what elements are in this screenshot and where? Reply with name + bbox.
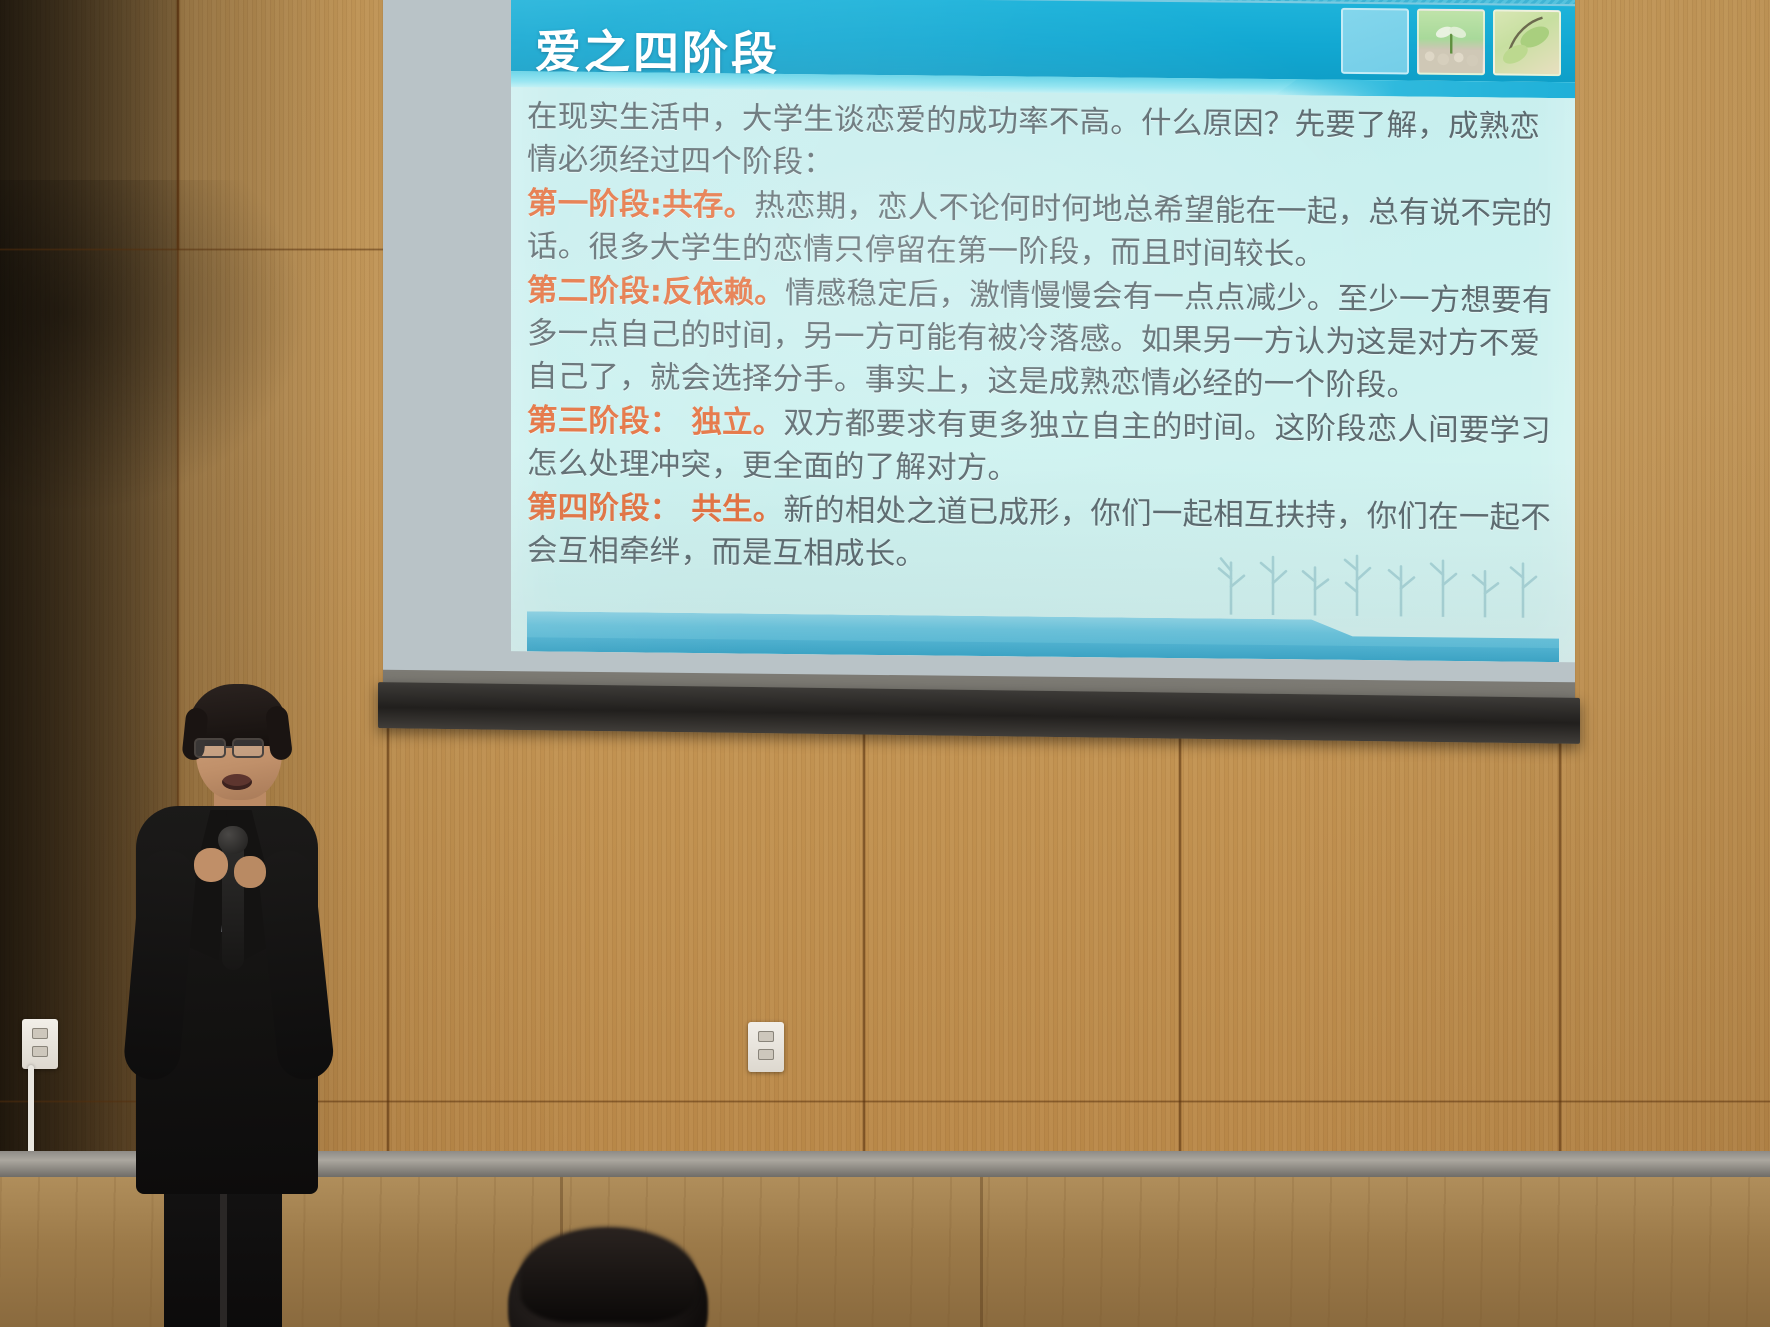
leaves-icon [1495, 11, 1559, 74]
stage-label-1: 第一阶段:共存。 [527, 186, 754, 223]
wall-seam-vertical [1558, 720, 1562, 1177]
speaker-hand-right [234, 856, 266, 888]
speaker-glasses-right-lens [232, 738, 264, 758]
speaker-presenter [118, 680, 368, 1327]
outlet-cable [28, 1065, 34, 1157]
stage-label-3: 第三阶段： 独立。 [527, 403, 783, 441]
wall-seam-vertical [1178, 720, 1182, 1177]
audience-member-hair [520, 1227, 696, 1323]
slide-paragraph-1: 第一阶段:共存。热恋期，恋人不论何时何地总希望能在一起，总有说不完的话。很多大学… [527, 182, 1557, 279]
speaker-mouth [222, 774, 252, 790]
green-leaves-thumbnail [1493, 9, 1561, 76]
speaker-leg-divider [220, 1180, 227, 1327]
paragraph-text: 在现实生活中，大学生谈恋爱的成功率不高。什么原因？先要了解，成熟恋情必须经过四个… [527, 99, 1540, 180]
stage-label-2: 第二阶段:反依赖。 [527, 273, 785, 311]
slide-paragraph-0: 在现实生活中，大学生谈恋爱的成功率不高。什么原因？先要了解，成熟恋情必须经过四个… [527, 95, 1557, 192]
seedling-icon [1419, 11, 1483, 74]
wall-shadow-blob [0, 180, 300, 510]
presentation-slide: 爱之四阶段 [511, 0, 1575, 662]
seedling-thumbnail [1417, 9, 1485, 76]
slide-thumbnail-group [1341, 8, 1561, 76]
stage-label-4: 第四阶段： 共生。 [527, 490, 783, 528]
wall-seam-horizontal [0, 248, 386, 251]
lecture-hall-scene: 爱之四阶段 [0, 0, 1770, 1327]
microphone-head [218, 826, 248, 854]
slide-paragraph-3: 第三阶段： 独立。双方都要求有更多独立自主的时间。这阶段恋人间要学习怎么处理冲突… [527, 399, 1557, 496]
projection-screen-surface: 爱之四阶段 [383, 0, 1575, 682]
wall-seam-vertical [386, 720, 390, 1177]
slide-body-text: 在现实生活中，大学生谈恋爱的成功率不高。什么原因？先要了解，成熟恋情必须经过四个… [527, 95, 1557, 584]
power-outlet [748, 1022, 784, 1072]
speaker-glasses-bridge [226, 746, 234, 748]
speaker-hand-left [194, 848, 228, 882]
wall-seam-vertical [176, 0, 180, 250]
speaker-glasses-left-lens [194, 738, 226, 758]
wall-seam-vertical [862, 720, 866, 1177]
slide-paragraph-2: 第二阶段:反依赖。情感稳定后，激情慢慢会有一点点减少。至少一方想要有多一点自己的… [527, 269, 1557, 409]
projection-screen-frame: 爱之四阶段 [383, 0, 1575, 737]
power-outlet [22, 1019, 58, 1069]
blank-blue-thumbnail [1341, 8, 1409, 75]
grass-decoration-icon [1211, 548, 1541, 617]
floor-seam [980, 1177, 983, 1327]
